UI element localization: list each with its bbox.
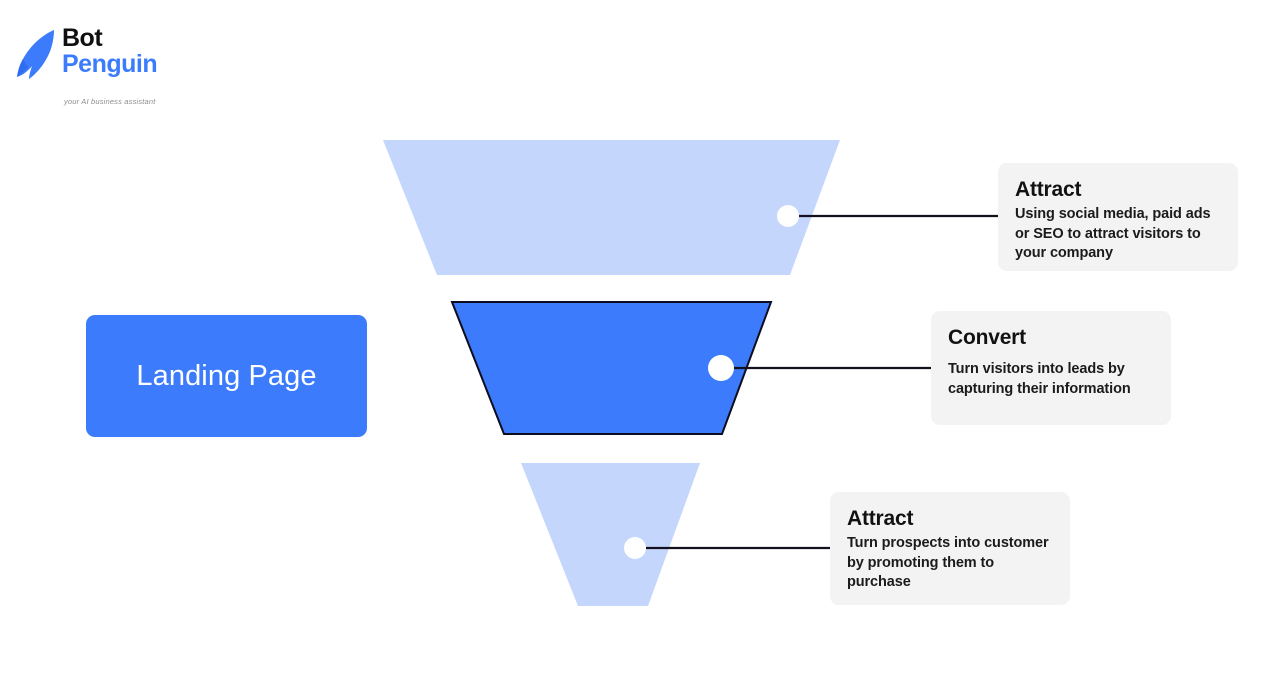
callout-title: Attract [1015,177,1221,203]
callout-body: Turn visitors into leads by capturing th… [948,360,1154,399]
funnel-dot-convert[interactable] [708,355,734,381]
callout-card-close[interactable]: Attract Turn prospects into customer by … [830,492,1070,605]
callout-card-convert[interactable]: Convert Turn visitors into leads by capt… [931,311,1171,425]
funnel-dot-close[interactable] [624,537,646,559]
penguin-logo-icon [16,28,62,80]
funnel-dot-attract[interactable] [777,205,799,227]
callout-card-attract[interactable]: Attract Using social media, paid ads or … [998,163,1238,271]
callout-body: Using social media, paid ads or SEO to a… [1015,205,1221,263]
funnel-stage-convert[interactable] [452,302,771,434]
brand-name-line1: Bot [62,26,157,52]
brand-name-line2: Penguin [62,52,157,78]
landing-page-label: Landing Page [136,360,316,393]
funnel-diagram-canvas: Bot Penguin your AI business assistant L… [0,0,1280,686]
brand-wordmark: Bot Penguin [62,26,157,77]
callout-title: Convert [948,325,1154,351]
callout-body: Turn prospects into customer by promotin… [847,534,1053,592]
funnel-stage-attract[interactable] [383,140,840,275]
callout-title: Attract [847,506,1053,532]
brand-tagline: your AI business assistant [64,97,156,106]
brand-logo: Bot Penguin your AI business assistant [14,22,214,97]
funnel-stage-close[interactable] [521,463,700,606]
landing-page-block[interactable]: Landing Page [86,315,367,437]
